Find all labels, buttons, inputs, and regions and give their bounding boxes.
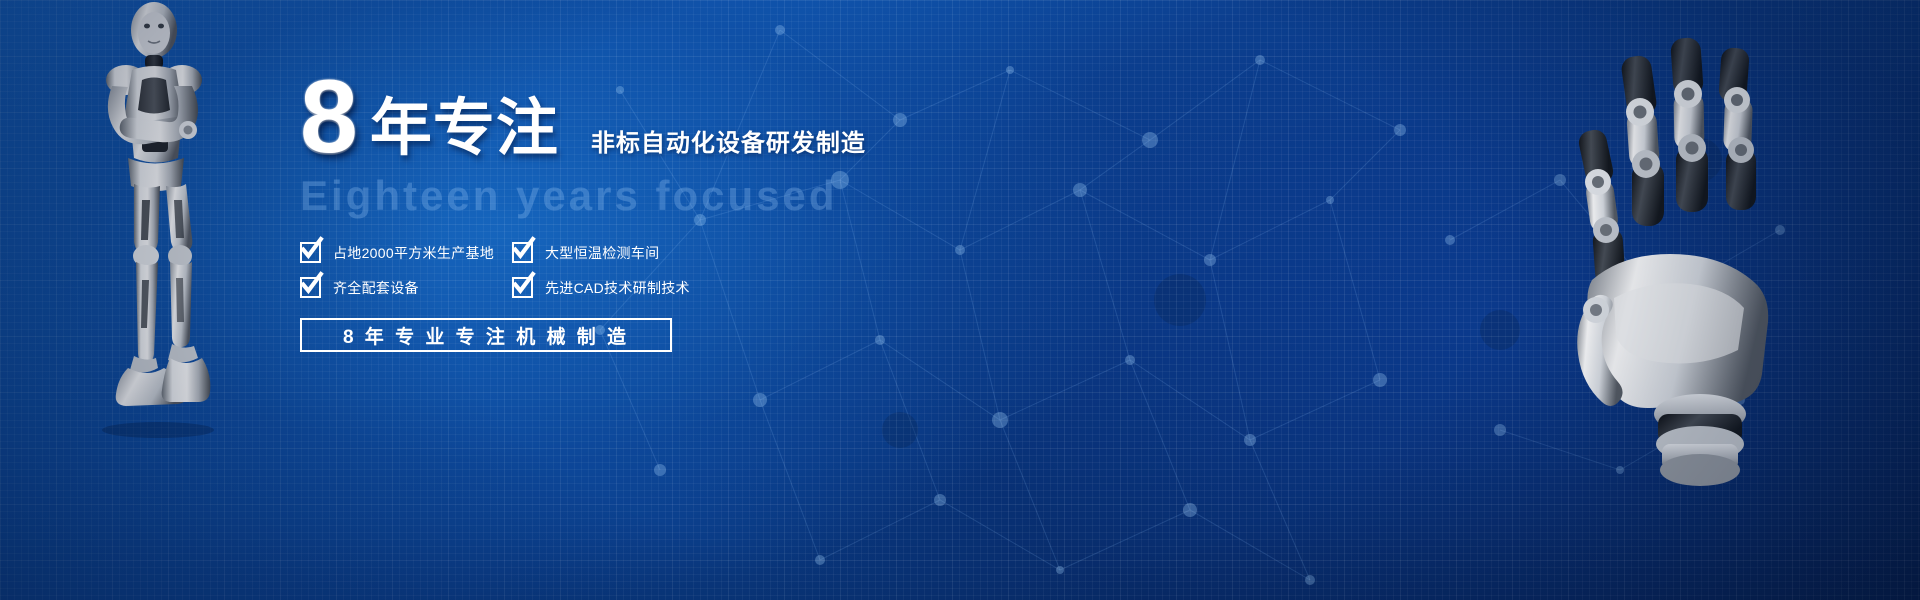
check-icon (512, 277, 533, 298)
check-icon (300, 277, 321, 298)
headline-chinese: 年专注 (370, 98, 559, 160)
grid-texture-fine (0, 0, 1920, 600)
banner-text-block: 8 年专注 非标自动化设备研发制造 Eighteen years focused… (300, 72, 940, 352)
headline-ghost-english: Eighteen years focused (300, 172, 940, 220)
headline-side-text: 非标自动化设备研发制造 (591, 123, 866, 164)
promo-banner: 8 年专注 非标自动化设备研发制造 Eighteen years focused… (0, 0, 1920, 600)
feature-list: 占地2000平方米生产基地 大型恒温检测车间 齐全配套设备 先进CAD技术研制技… (300, 242, 940, 298)
slogan-bar: 8 年 专 业 专 注 机 械 制 造 (300, 318, 672, 352)
vignette-overlay (0, 0, 1920, 600)
headline-row: 8 年专注 非标自动化设备研发制造 (300, 72, 940, 164)
feature-item: 占地2000平方米生产基地 (300, 242, 512, 263)
check-icon (512, 242, 533, 263)
feature-label: 先进CAD技术研制技术 (545, 278, 690, 298)
network-constellation-graphic (0, 0, 1920, 600)
feature-item: 大型恒温检测车间 (512, 242, 772, 263)
humanoid-robot-image (62, 0, 272, 490)
slogan-text: 8 年 专 业 专 注 机 械 制 造 (343, 322, 629, 349)
check-icon (300, 242, 321, 263)
feature-label: 占地2000平方米生产基地 (333, 243, 494, 263)
feature-item: 齐全配套设备 (300, 277, 512, 298)
feature-item: 先进CAD技术研制技术 (512, 277, 772, 298)
feature-label: 齐全配套设备 (333, 278, 419, 298)
grid-texture-coarse (0, 0, 1920, 600)
robotic-hand-image (1562, 10, 1892, 490)
feature-label: 大型恒温检测车间 (545, 243, 659, 263)
headline-number: 8 (300, 70, 356, 166)
